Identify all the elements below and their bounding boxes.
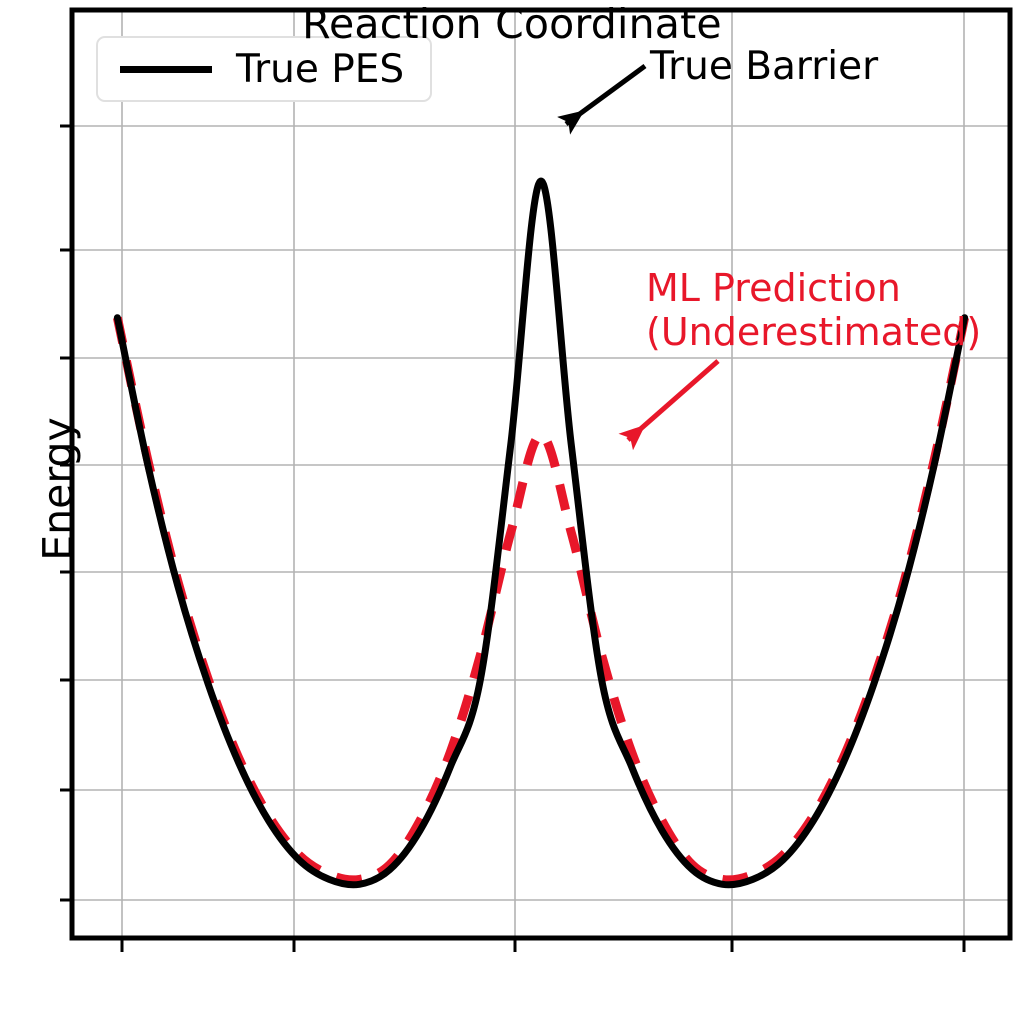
pes-chart [0,0,1024,1024]
plot-background [72,10,1010,938]
legend-line-swatch-true-pes [120,66,212,73]
chart-page: True PES True Barrier ML Prediction (Und… [0,0,1024,1024]
y-axis-label: Energy [34,309,82,669]
legend-label-true-pes: True PES [236,47,404,92]
annotation-ml-prediction: ML Prediction (Underestimated) [646,266,981,355]
annotation-true-barrier: True Barrier [650,44,878,89]
annotation-ml-line1: ML Prediction [646,266,981,310]
x-axis-label: Reaction Coordinate [0,0,1024,48]
annotation-ml-line2: (Underestimated) [646,310,981,354]
